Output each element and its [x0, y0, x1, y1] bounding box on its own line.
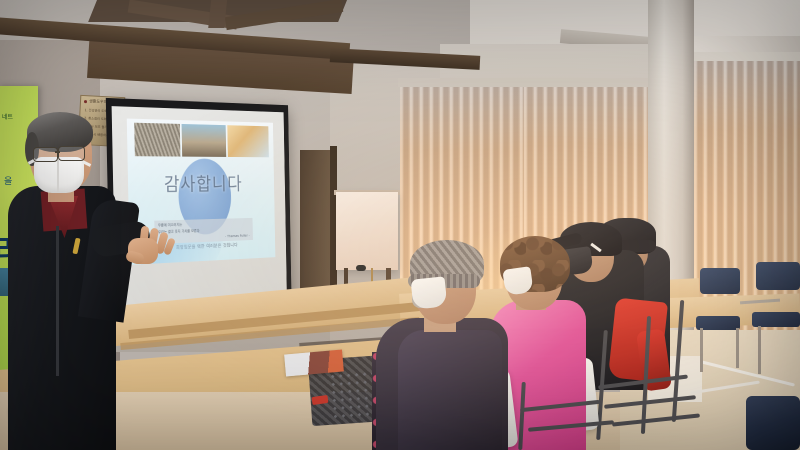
greenhouse-interior-photo — [227, 125, 269, 157]
banner-top-text: 네트 — [2, 112, 13, 121]
whiteboard-panel[interactable] — [336, 192, 398, 270]
empty-chair-leg-1a — [700, 328, 703, 372]
mask-center-seam — [57, 158, 59, 192]
presenter-white-kf94-mask — [34, 157, 84, 193]
slide-title: 감사합니다 — [128, 170, 274, 197]
slide-photo-strip — [134, 123, 269, 158]
empty-chair-leg-1b — [736, 328, 739, 368]
plaque-title: 생활도우미 — [89, 98, 108, 105]
eyeglass-bridge — [55, 151, 60, 153]
dark-purple-vest — [398, 330, 502, 450]
presenter-eyeglass-lens-right — [58, 146, 85, 161]
bullet-dot-icon — [84, 100, 87, 103]
empty-chair-back-2[interactable] — [756, 262, 800, 290]
wooden-door[interactable] — [300, 150, 334, 290]
empty-chair-seat-2[interactable] — [752, 312, 800, 327]
curtain-rail-right — [692, 52, 800, 61]
empty-chair-foreground-right[interactable] — [746, 396, 800, 450]
banner-mid-text: 을 — [4, 174, 12, 187]
empty-chair-back-1[interactable] — [700, 268, 740, 294]
curtain-rail-center — [398, 78, 656, 87]
rural-village-photo — [182, 124, 226, 157]
solar-panel-array-photo — [134, 123, 181, 157]
presenter-eyeglass-lens-left — [33, 147, 58, 162]
seminar-room-photo: 생활도우미 1. 건강관리 도와주기 2. 청소정리 도와주기 3. 식사 보조… — [0, 0, 800, 450]
whiteboard-clip — [356, 265, 366, 271]
empty-chair-leg-2a — [758, 326, 761, 374]
presenter-jacket-zipper — [56, 226, 59, 376]
